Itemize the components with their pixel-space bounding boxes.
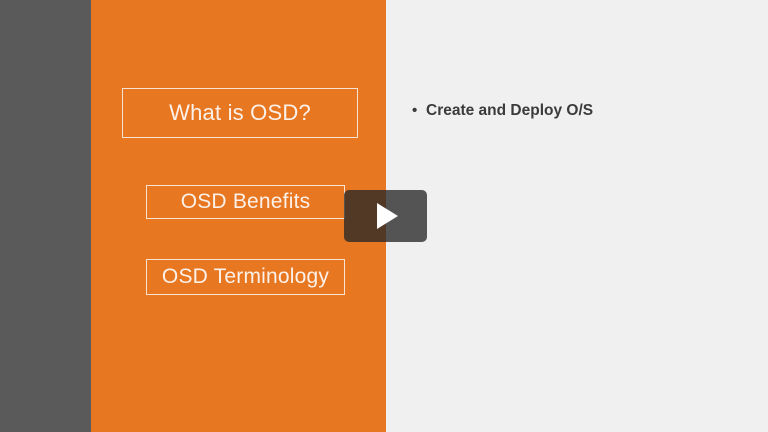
menu-box-label: What is OSD? [169,100,311,126]
bullet-marker-icon: • [412,100,426,122]
content-panel [386,0,768,432]
video-play-button[interactable] [344,190,427,242]
menu-box-osd-benefits[interactable]: OSD Benefits [146,185,345,219]
slide-canvas: What is OSD? OSD Benefits OSD Terminolog… [0,0,768,432]
bullet-list: • Create and Deploy O/S [412,100,742,122]
list-item: • Create and Deploy O/S [412,100,742,122]
menu-box-what-is-osd[interactable]: What is OSD? [122,88,358,138]
menu-box-label: OSD Benefits [181,190,311,214]
menu-box-label: OSD Terminology [162,265,329,289]
left-accent-band [0,0,91,432]
menu-box-osd-terminology[interactable]: OSD Terminology [146,259,345,295]
play-triangle-icon [377,203,398,229]
bullet-item-text: Create and Deploy O/S [426,100,742,122]
